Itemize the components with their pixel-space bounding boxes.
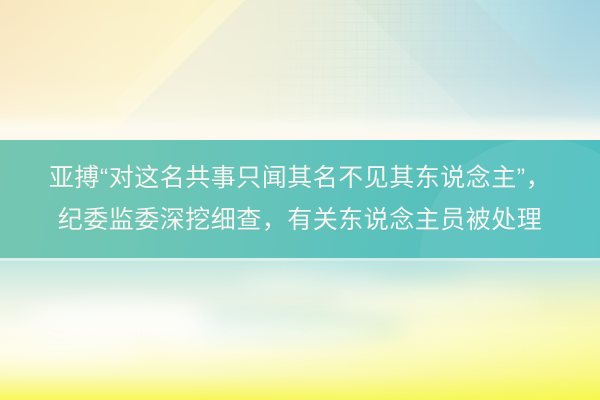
promo-banner: 亚搏“对这名共事只闻其名不见其东说念主”， 纪委监委深挖细查，有关东说念主员被处… bbox=[0, 0, 600, 400]
top-decorative-section bbox=[0, 0, 600, 140]
bottom-yellow-overlay bbox=[0, 258, 600, 400]
headline-line-1: 亚搏“对这名共事只闻其名不见其东说念主”， bbox=[49, 157, 551, 199]
bottom-decorative-section bbox=[0, 258, 600, 400]
headline-line-2: 纪委监委深挖细查，有关东说念主员被处理 bbox=[58, 199, 543, 241]
top-bottom-fade bbox=[0, 114, 600, 140]
headline-band: 亚搏“对这名共事只闻其名不见其东说念主”， 纪委监委深挖细查，有关东说念主员被处… bbox=[0, 140, 600, 258]
